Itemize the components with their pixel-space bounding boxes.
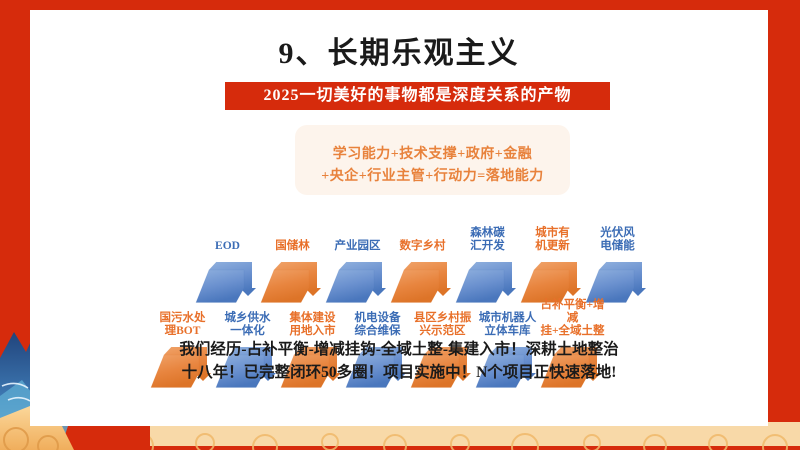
arrow-item[interactable]: 森林碳汇开发 [455, 210, 520, 305]
subtitle-banner: 2025一切美好的事物都是深度关系的产物 [225, 82, 610, 110]
arrow-label: 产业园区 [320, 240, 395, 253]
arrow-label: 国储林 [255, 240, 330, 253]
bottom-summary-line-2: 十八年！已完整闭环50多圈！项目实施中！N个项目正快速落地! [30, 361, 768, 384]
arrow-label: 国污水处理BOT [145, 312, 220, 338]
arrow-item[interactable]: 数字乡村 [390, 210, 455, 305]
bottom-summary-line-1: 我们经历-占补平衡-增减挂钩-全域土整-集建入市！深耕土地整治 [30, 338, 768, 361]
arrow-label: 森林碳汇开发 [450, 227, 525, 253]
arrow-label: 城市机器人立体车库 [470, 312, 545, 338]
arrow-item[interactable]: 光伏风电储能 [585, 210, 650, 305]
slide-canvas: 9、长期乐观主义 2025一切美好的事物都是深度关系的产物 学习能力+技术支撑+… [0, 0, 800, 450]
arrow-label: 数字乡村 [385, 240, 460, 253]
arrow-label: 城市有机更新 [515, 227, 590, 253]
page-title: 9、长期乐观主义 [30, 28, 768, 72]
formula-line-2: +央企+行业主管+行动力=落地能力 [295, 165, 570, 185]
arrow-label: 机电设备综合维保 [340, 312, 415, 338]
arrow-row-1: EOD 国储林 产业园区 [195, 210, 650, 305]
formula-line-1: 学习能力+技术支撑+政府+金融 [295, 143, 570, 163]
arrow-label: 县区乡村振兴示范区 [405, 312, 480, 338]
arrow-label: 集体建设用地入市 [275, 312, 350, 338]
arrow-item[interactable]: EOD [195, 210, 260, 305]
arrow-item[interactable]: 产业园区 [325, 210, 390, 305]
slide-content-card: 9、长期乐观主义 2025一切美好的事物都是深度关系的产物 学习能力+技术支撑+… [30, 10, 768, 426]
arrow-label: 占补平衡+增减挂+全域土整 [535, 299, 610, 338]
arrow-item[interactable]: 城市有机更新 [520, 210, 585, 305]
arrow-label: EOD [190, 240, 265, 253]
arrow-label: 光伏风电储能 [580, 227, 655, 253]
formula-box: 学习能力+技术支撑+政府+金融 +央企+行业主管+行动力=落地能力 [295, 125, 570, 195]
arrow-label: 城乡供水一体化 [210, 312, 285, 338]
arrow-item[interactable]: 国储林 [260, 210, 325, 305]
bottom-summary-text: 我们经历-占补平衡-增减挂钩-全域土整-集建入市！深耕土地整治 十八年！已完整闭… [30, 338, 768, 384]
